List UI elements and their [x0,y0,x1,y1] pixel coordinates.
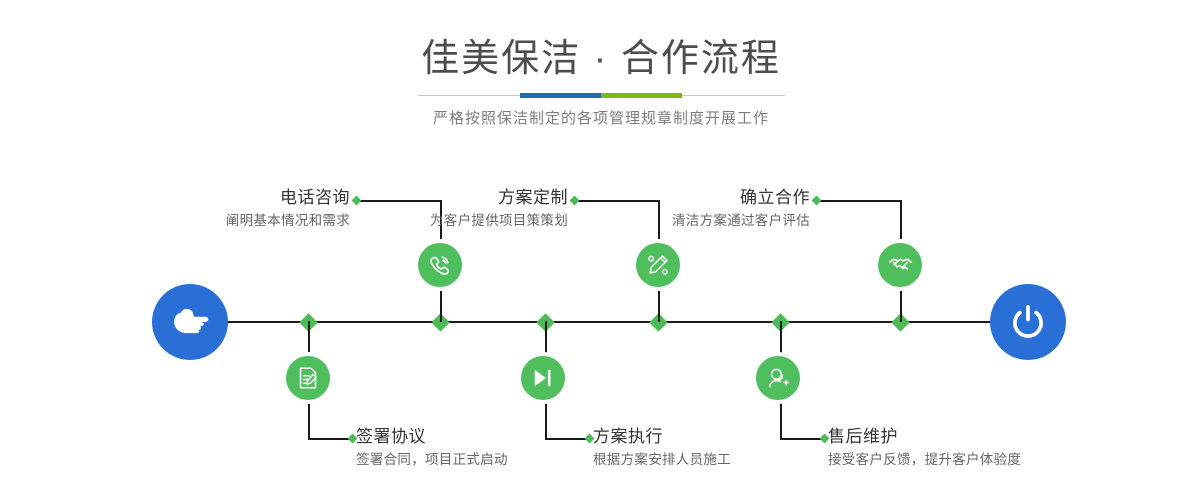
play-skip-icon [531,366,555,390]
start-endpoint[interactable] [152,284,228,360]
connector-step2-horizontal [308,438,352,440]
step-label-5: 确立合作 清洁方案通过客户评估 [614,186,810,232]
step-subtitle-3: 为客户提供项目策策划 [372,210,568,232]
step-label-4: 方案执行 根据方案安排人员施工 [593,425,813,471]
step-node-aftersales[interactable] [756,356,800,400]
power-icon [1008,302,1048,342]
page-title: 佳美保洁 · 合作流程 [0,36,1202,82]
title-divider-green-segment [601,93,682,98]
pointing-hand-icon [169,301,211,343]
flowchart-canvas: 佳美保洁 · 合作流程 严格按照保洁制定的各项管理规章制度开展工作 [0,0,1202,502]
step-title-1: 电话咨询 [154,186,350,210]
document-sign-icon [296,366,320,390]
step-subtitle-4: 根据方案安排人员施工 [593,449,813,471]
step-subtitle-5: 清洁方案通过客户评估 [614,210,810,232]
step-node-phone[interactable] [418,243,462,287]
step-title-4: 方案执行 [593,425,813,449]
step-title-5: 确立合作 [614,186,810,210]
step-subtitle-6: 接受客户反馈，提升客户体验度 [828,449,1078,471]
phone-call-icon [428,253,452,277]
step-label-2: 签署协议 签署合同，项目正式启动 [356,425,576,471]
end-endpoint[interactable] [990,284,1066,360]
step-label-3: 方案定制 为客户提供项目策策划 [372,186,568,232]
handshake-icon [888,253,913,278]
title-divider-blue-segment [520,93,601,98]
connector-step3-dot [570,196,580,206]
connector-step1-dot [352,196,362,206]
step-label-6: 售后维护 接受客户反馈，提升客户体验度 [828,425,1078,471]
step-node-sign[interactable] [286,356,330,400]
connector-step5-dot [812,196,822,206]
step-label-1: 电话咨询 阐明基本情况和需求 [154,186,350,232]
step-subtitle-2: 签署合同，项目正式启动 [356,449,576,471]
page-subtitle: 严格按照保洁制定的各项管理规章制度开展工作 [0,108,1202,130]
step-node-handshake[interactable] [878,243,922,287]
pencil-ruler-icon [646,253,670,277]
step-node-execute[interactable] [521,356,565,400]
step-node-design[interactable] [636,243,680,287]
connector-step5-horizontal [816,200,902,202]
customer-support-icon [766,366,790,390]
step-title-3: 方案定制 [372,186,568,210]
step-title-6: 售后维护 [828,425,1078,449]
step-title-2: 签署协议 [356,425,576,449]
step-subtitle-1: 阐明基本情况和需求 [154,210,350,232]
